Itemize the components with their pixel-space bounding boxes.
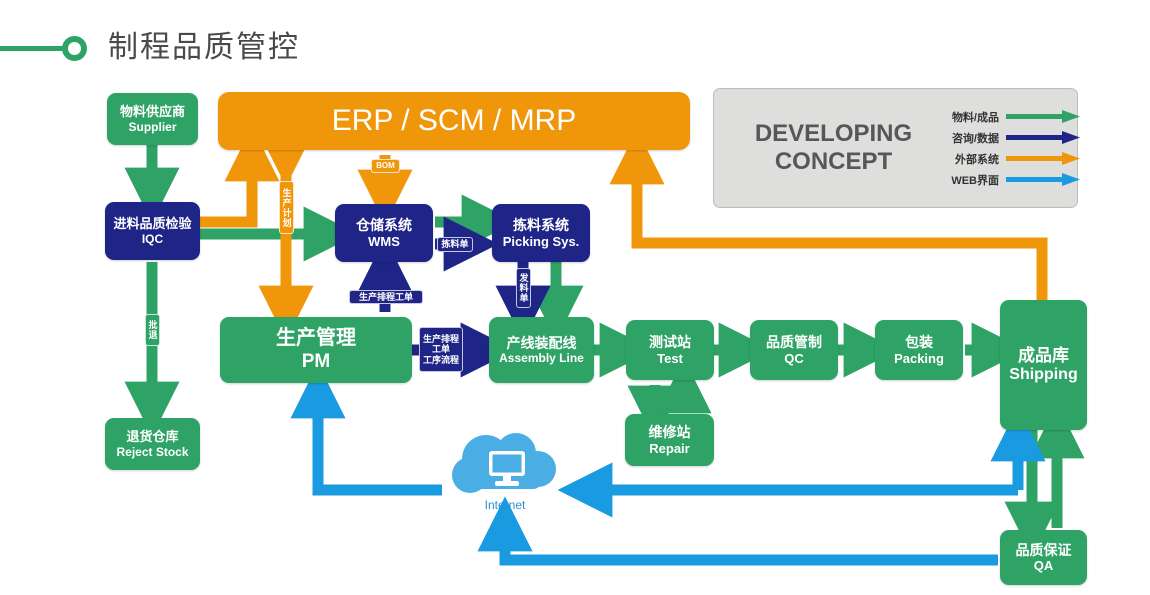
tag-bom: BOM [371,159,400,173]
node-picking-cn: 拣料系统 [513,217,569,234]
diagram-canvas: 制程品质管控 [0,0,1150,595]
node-pm-en: PM [302,351,331,373]
node-iqc-cn: 进料品质检验 [113,216,191,231]
node-qa-cn: 品质保证 [1016,542,1072,559]
node-assembly-en: Assembly Line [499,351,584,365]
node-wms-cn: 仓储系统 [356,217,412,234]
tag-picking-order: 拣料单 [437,237,473,252]
node-reject-stock[interactable]: 退货仓库 Reject Stock [105,418,200,470]
node-supplier-en: Supplier [128,120,176,134]
node-iqc[interactable]: 进料品质检验 IQC [105,202,200,260]
node-assembly-cn: 产线装配线 [507,335,577,352]
node-packing-en: Packing [894,351,944,366]
legend-label-external: 外部系统 [937,151,999,167]
node-qa-en: QA [1034,558,1054,573]
node-packing-cn: 包装 [905,334,933,351]
node-test-station[interactable]: 测试站 Test [626,320,714,380]
node-test-en: Test [657,351,683,366]
node-repair-station[interactable]: 维修站 Repair [625,414,714,466]
tag-wop-line1: 生产排程 [423,334,459,344]
internet-label: Internet [446,498,564,512]
legend-label-data: 咨询/数据 [937,130,999,146]
legend-arrow-right-icon-web [1006,173,1080,186]
legend-title-line1: DEVELOPING [736,120,931,148]
legend-title-line2: CONCEPT [736,148,931,176]
node-erp[interactable]: ERP / SCM / MRP [218,92,690,150]
tag-issue-order: 发料单 [516,268,531,308]
legend-row-web: WEB界面 [937,171,1080,189]
tag-wop-line3: 工序流程 [423,355,459,365]
node-shipping-cn: 成品库 [1018,346,1069,366]
node-supplier[interactable]: 物料供应商 Supplier [107,93,198,145]
node-shipping[interactable]: 成品库 Shipping [1000,300,1087,430]
legend-row-material: 物料/成品 [937,108,1080,126]
legend-label-material: 物料/成品 [937,109,999,125]
legend-items: 物料/成品 咨询/数据 外部系统 WEB界面 [937,108,1080,189]
node-qc[interactable]: 品质管制 QC [750,320,838,380]
node-iqc-en: IQC [142,232,163,246]
node-supplier-cn: 物料供应商 [120,104,185,119]
legend-label-web: WEB界面 [937,172,999,188]
node-repair-cn: 维修站 [649,424,691,441]
node-picking-system[interactable]: 拣料系统 Picking Sys. [492,204,590,262]
tag-work-order-process: 生产排程 工单 工序流程 [419,327,463,372]
legend-box: DEVELOPING CONCEPT 物料/成品 咨询/数据 外部系统 [713,88,1078,208]
node-wms[interactable]: 仓储系统 WMS [335,204,433,262]
node-pm-cn: 生产管理 [276,327,356,351]
node-erp-label: ERP / SCM / MRP [332,103,576,138]
node-test-cn: 测试站 [649,334,691,351]
node-internet[interactable]: Internet [446,433,564,517]
tag-batch-reject: 批退 [145,314,160,346]
legend-arrow-right-icon-material [1006,110,1080,123]
node-shipping-en: Shipping [1009,366,1077,385]
node-wms-en: WMS [368,234,400,249]
node-reject-stock-cn: 退货仓库 [126,429,178,444]
node-packing[interactable]: 包装 Packing [875,320,963,380]
legend-title: DEVELOPING CONCEPT [736,120,931,177]
node-picking-en: Picking Sys. [503,234,580,249]
legend-row-data: 咨询/数据 [937,129,1080,147]
node-repair-en: Repair [649,441,689,456]
node-qc-cn: 品质管制 [766,334,822,351]
node-reject-stock-en: Reject Stock [116,445,188,459]
legend-arrow-right-icon-data [1006,131,1080,144]
node-qc-en: QC [784,351,804,366]
cloud-icon [446,433,564,499]
tag-production-plan: 生产计划 [279,181,294,234]
legend-arrow-right-icon-external [1006,152,1080,165]
node-assembly-line[interactable]: 产线装配线 Assembly Line [489,317,594,383]
node-qa[interactable]: 品质保证 QA [1000,530,1087,585]
legend-row-external: 外部系统 [937,150,1080,168]
node-production-management[interactable]: 生产管理 PM [220,317,412,383]
tag-wop-line2: 工单 [432,344,450,354]
tag-schedule-work-order: 生产排程工单 [349,290,423,304]
